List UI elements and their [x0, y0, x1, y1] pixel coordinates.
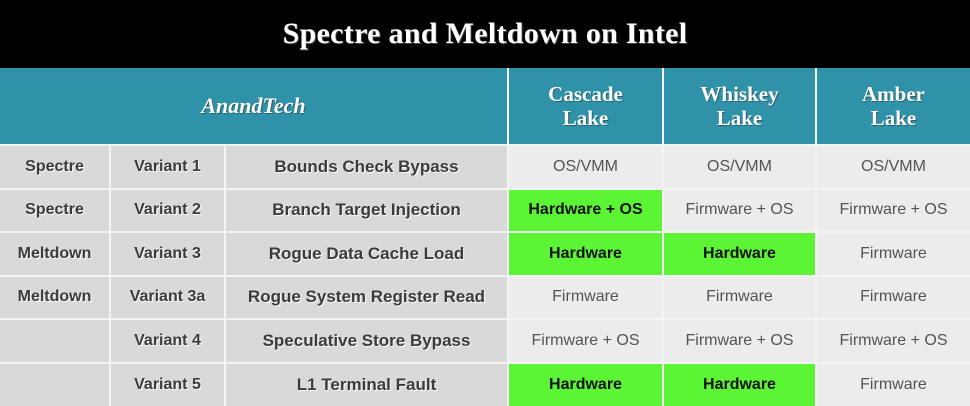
- cell-amber-lake: Firmware: [816, 232, 970, 276]
- cell-amber-lake: OS/VMM: [816, 145, 970, 189]
- page-root: Spectre and Meltdown on Intel AnandTech …: [0, 0, 970, 406]
- cell-variant: Variant 3a: [110, 276, 225, 320]
- cell-vulnerability-family: Meltdown: [0, 232, 110, 276]
- cell-vulnerability-name: L1 Terminal Fault: [225, 363, 508, 406]
- cell-whiskey-lake: Firmware: [663, 276, 816, 320]
- page-title: Spectre and Meltdown on Intel: [283, 17, 688, 51]
- table-row: Variant 4Speculative Store BypassFirmwar…: [0, 319, 970, 363]
- cell-cascade-lake: Firmware + OS: [508, 319, 663, 363]
- cell-vulnerability-name: Speculative Store Bypass: [225, 319, 508, 363]
- table-row: Variant 5L1 Terminal FaultHardwareHardwa…: [0, 363, 970, 406]
- cell-cascade-lake: Hardware: [508, 363, 663, 406]
- header-whiskey-lake-line1: Whiskey: [664, 82, 815, 106]
- cell-whiskey-lake: Hardware: [663, 232, 816, 276]
- header-amber-lake: Amber Lake: [816, 68, 970, 145]
- header-brand-anandtech: AnandTech: [0, 68, 508, 145]
- cell-vulnerability-family: Spectre: [0, 189, 110, 233]
- cell-cascade-lake: Firmware: [508, 276, 663, 320]
- header-amber-lake-line1: Amber: [817, 82, 970, 106]
- table-header: AnandTech Cascade Lake Whiskey Lake Ambe…: [0, 68, 970, 145]
- cell-cascade-lake: OS/VMM: [508, 145, 663, 189]
- cell-cascade-lake: Hardware: [508, 232, 663, 276]
- title-bar: Spectre and Meltdown on Intel: [0, 0, 970, 68]
- cell-vulnerability-family: [0, 363, 110, 406]
- cell-amber-lake: Firmware + OS: [816, 189, 970, 233]
- cell-cascade-lake: Hardware + OS: [508, 189, 663, 233]
- table-body: SpectreVariant 1Bounds Check BypassOS/VM…: [0, 145, 970, 406]
- header-cascade-lake-line1: Cascade: [509, 82, 662, 106]
- cell-vulnerability-family: Meltdown: [0, 276, 110, 320]
- cell-amber-lake: Firmware + OS: [816, 319, 970, 363]
- cell-whiskey-lake: OS/VMM: [663, 145, 816, 189]
- header-cascade-lake: Cascade Lake: [508, 68, 663, 145]
- cell-whiskey-lake: Hardware: [663, 363, 816, 406]
- cell-variant: Variant 5: [110, 363, 225, 406]
- cell-vulnerability-name: Bounds Check Bypass: [225, 145, 508, 189]
- vulnerability-matrix-table: AnandTech Cascade Lake Whiskey Lake Ambe…: [0, 68, 970, 406]
- table-row: SpectreVariant 1Bounds Check BypassOS/VM…: [0, 145, 970, 189]
- cell-vulnerability-name: Branch Target Injection: [225, 189, 508, 233]
- table-row: SpectreVariant 2Branch Target InjectionH…: [0, 189, 970, 233]
- cell-amber-lake: Firmware: [816, 276, 970, 320]
- header-whiskey-lake-line2: Lake: [664, 106, 815, 130]
- cell-whiskey-lake: Firmware + OS: [663, 189, 816, 233]
- cell-variant: Variant 4: [110, 319, 225, 363]
- cell-whiskey-lake: Firmware + OS: [663, 319, 816, 363]
- table-row: MeltdownVariant 3aRogue System Register …: [0, 276, 970, 320]
- cell-variant: Variant 2: [110, 189, 225, 233]
- cell-amber-lake: Firmware: [816, 363, 970, 406]
- cell-variant: Variant 1: [110, 145, 225, 189]
- header-cascade-lake-line2: Lake: [509, 106, 662, 130]
- cell-vulnerability-family: [0, 319, 110, 363]
- cell-variant: Variant 3: [110, 232, 225, 276]
- header-row: AnandTech Cascade Lake Whiskey Lake Ambe…: [0, 68, 970, 145]
- header-amber-lake-line2: Lake: [817, 106, 970, 130]
- table-row: MeltdownVariant 3Rogue Data Cache LoadHa…: [0, 232, 970, 276]
- cell-vulnerability-name: Rogue System Register Read: [225, 276, 508, 320]
- cell-vulnerability-family: Spectre: [0, 145, 110, 189]
- header-whiskey-lake: Whiskey Lake: [663, 68, 816, 145]
- cell-vulnerability-name: Rogue Data Cache Load: [225, 232, 508, 276]
